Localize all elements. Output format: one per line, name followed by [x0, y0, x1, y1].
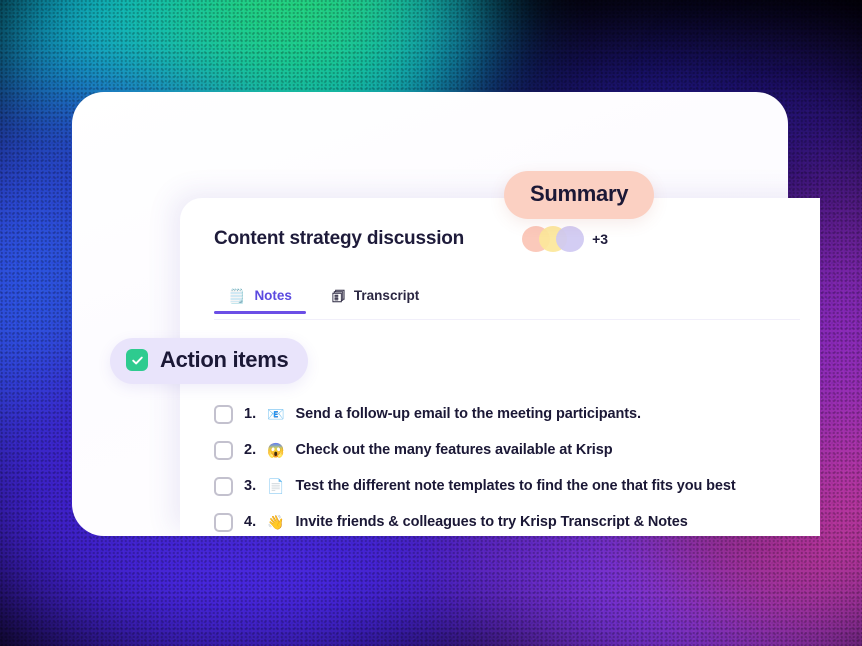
list-item-text: Send a follow-up email to the meeting pa…	[296, 406, 641, 422]
list-item-text: Invite friends & colleagues to try Krisp…	[296, 514, 688, 530]
panel-tabs: 🗒️ Notes 🗊 Transcript	[214, 282, 433, 314]
waving-hand-emoji: 👋	[267, 515, 284, 529]
notes-icon: 🗒️	[228, 289, 245, 303]
participant-avatars[interactable]: +3	[522, 226, 608, 252]
action-items-badge[interactable]: Action items	[110, 338, 308, 384]
checkbox[interactable]	[214, 513, 233, 532]
tabs-divider	[214, 319, 800, 320]
list-item-text: Test the different note templates to fin…	[296, 478, 736, 494]
avatar-stack	[522, 226, 584, 252]
summary-badge-label: Summary	[530, 181, 628, 206]
transcript-icon: 🗊	[332, 289, 345, 303]
page-emoji: 📄	[267, 479, 284, 493]
email-emoji: 📧	[267, 407, 284, 421]
list-item[interactable]: 2. 😱 Check out the many features availab…	[214, 432, 814, 468]
screenshot-stage: Content strategy discussion +3 🗒️ Notes …	[0, 0, 862, 646]
tab-transcript[interactable]: 🗊 Transcript	[318, 282, 433, 314]
list-item-number: 2.	[244, 442, 256, 458]
list-item[interactable]: 3. 📄 Test the different note templates t…	[214, 468, 814, 504]
checkbox[interactable]	[214, 405, 233, 424]
screaming-face-emoji: 😱	[267, 443, 284, 457]
action-items-badge-label: Action items	[160, 347, 288, 373]
summary-badge[interactable]: Summary	[504, 171, 654, 219]
list-item[interactable]: 4. 👋 Invite friends & colleagues to try …	[214, 504, 814, 540]
tab-notes[interactable]: 🗒️ Notes	[214, 282, 306, 314]
checkbox[interactable]	[214, 477, 233, 496]
tab-notes-label: Notes	[254, 288, 292, 303]
list-item[interactable]: 1. 📧 Send a follow-up email to the meeti…	[214, 396, 814, 432]
checkbox[interactable]	[214, 441, 233, 460]
checkmark-icon	[126, 349, 148, 371]
list-item-number: 3.	[244, 478, 256, 494]
avatar-overflow-count: +3	[592, 231, 608, 247]
page-title: Content strategy discussion	[214, 228, 464, 250]
tab-transcript-label: Transcript	[354, 288, 419, 303]
list-item-text: Check out the many features available at…	[296, 442, 613, 458]
avatar	[556, 226, 584, 252]
panel-header: Content strategy discussion +3	[214, 226, 820, 252]
list-item-number: 1.	[244, 406, 256, 422]
list-item-number: 4.	[244, 514, 256, 530]
action-items-list: 1. 📧 Send a follow-up email to the meeti…	[214, 396, 814, 540]
